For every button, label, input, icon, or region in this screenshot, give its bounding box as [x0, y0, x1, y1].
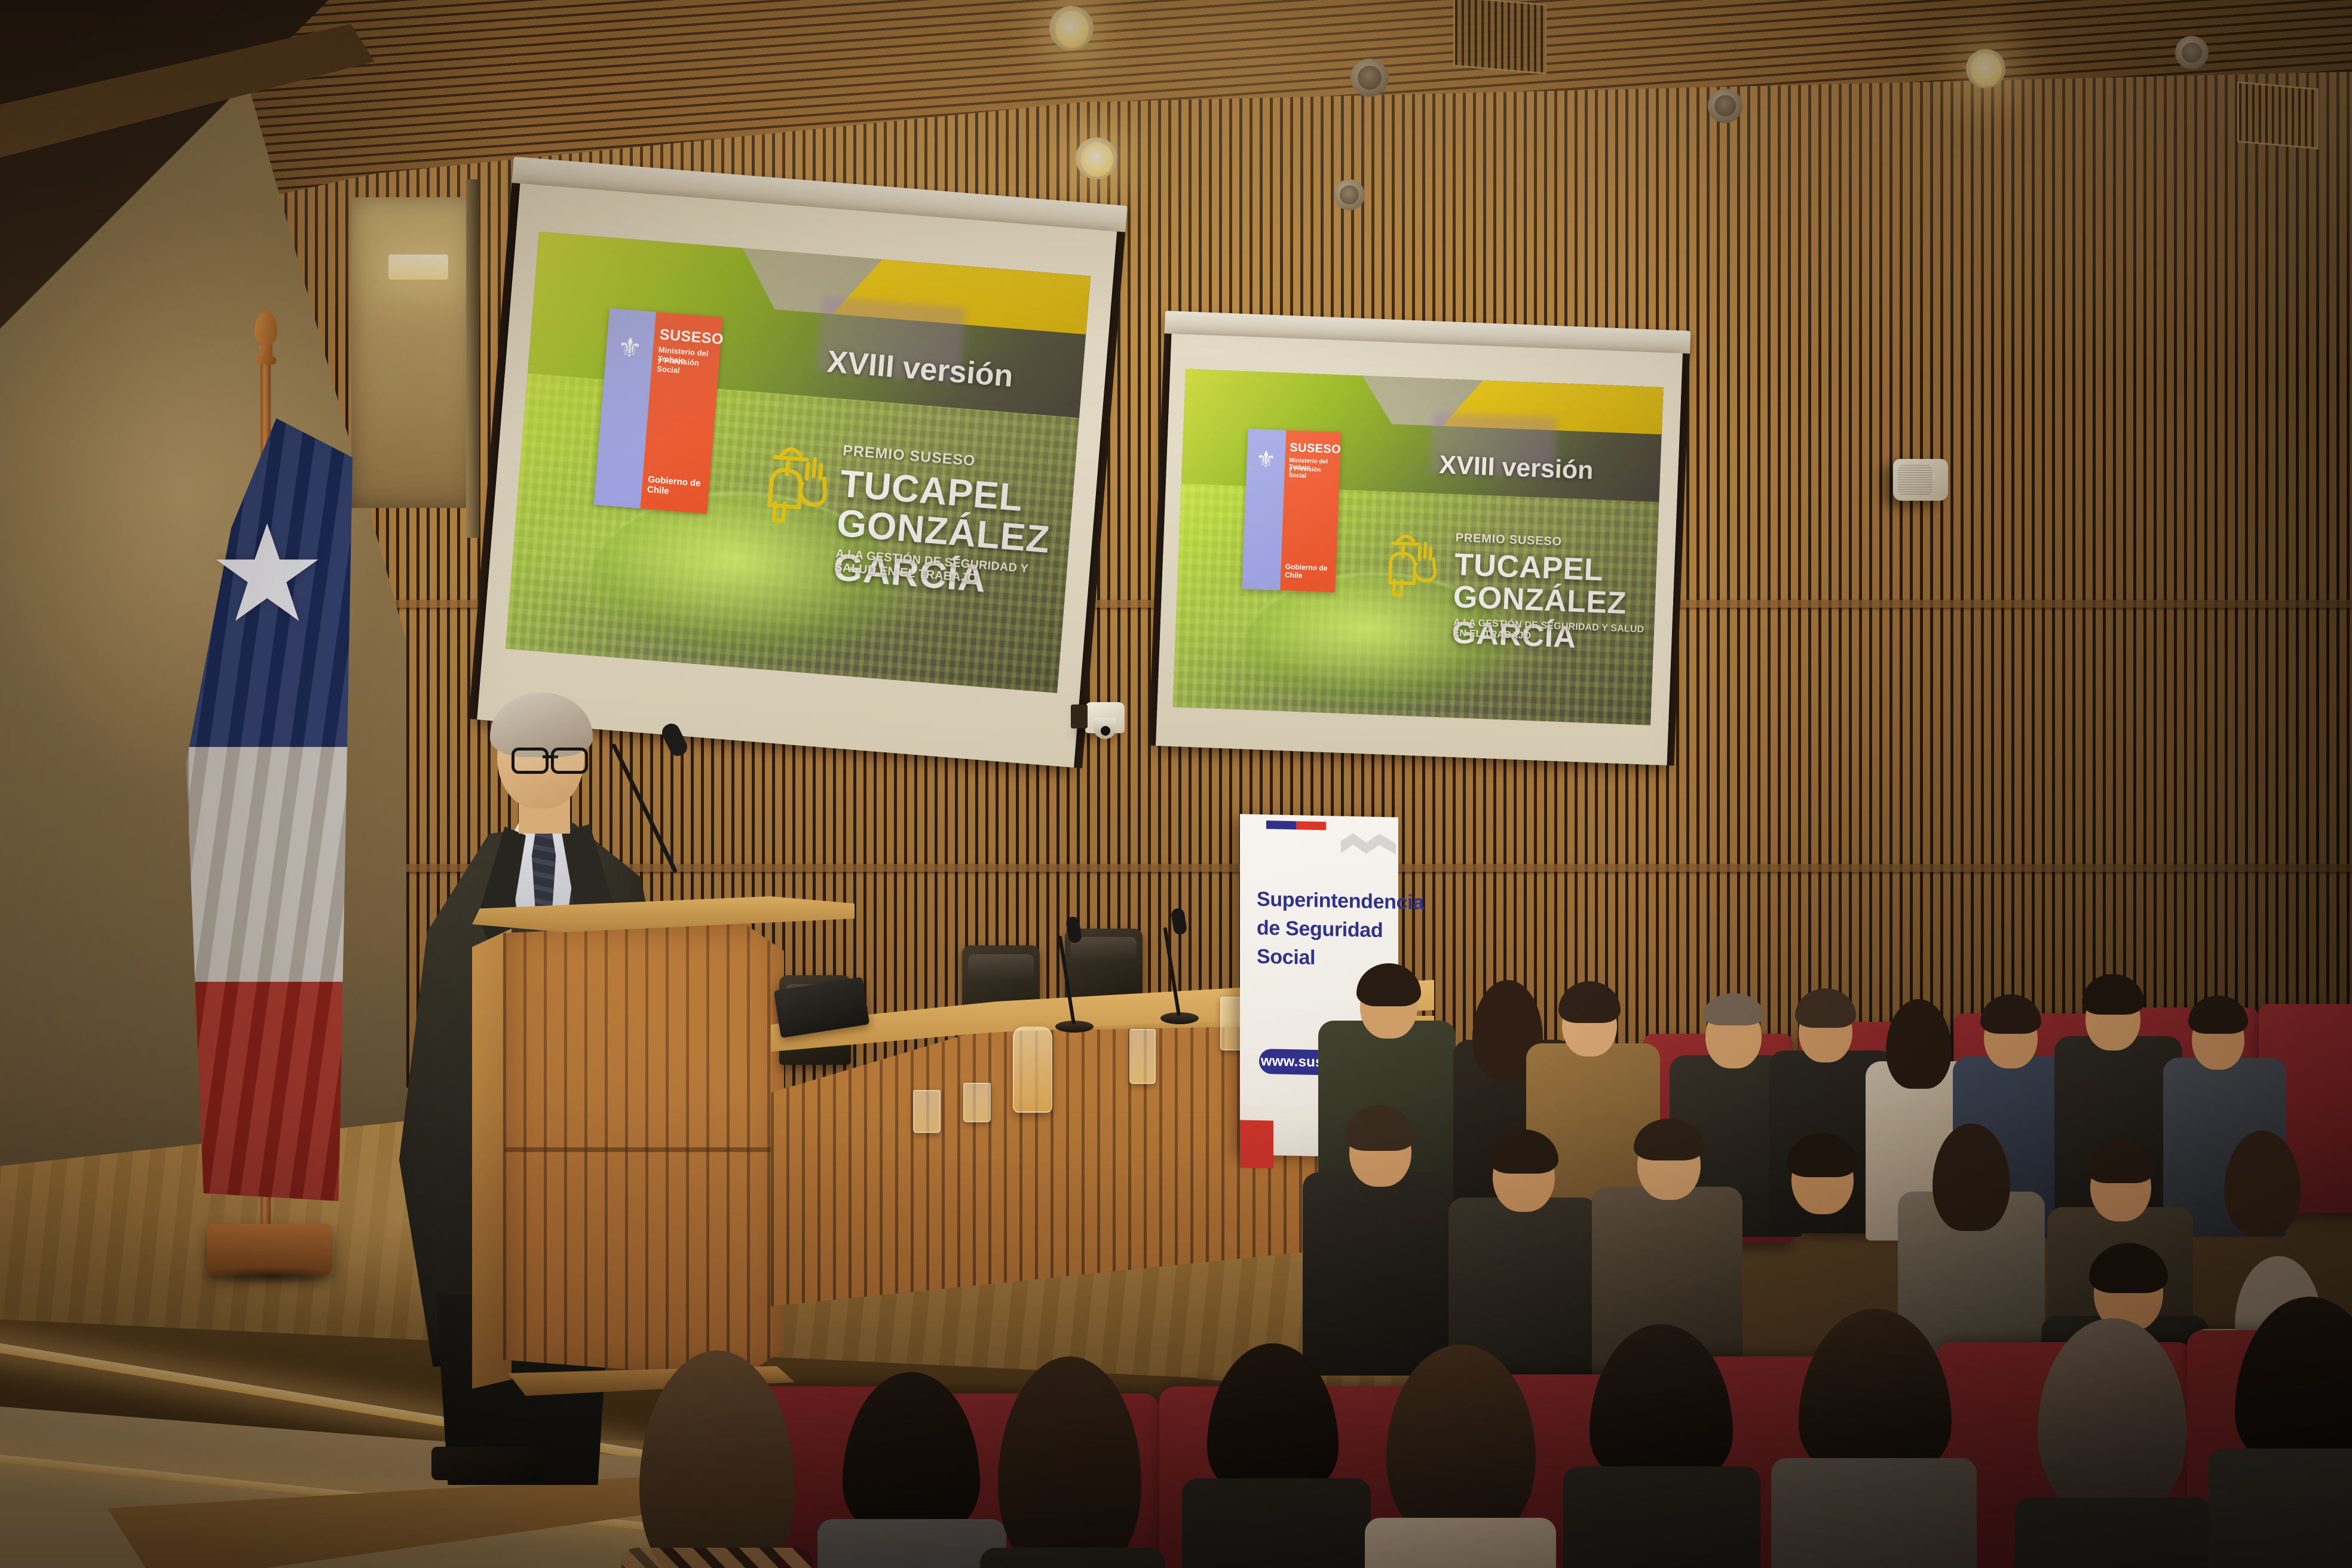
slide-award-name-2: GONZÁLEZ GARCÍA: [1451, 579, 1656, 659]
slide-left: ⚜ SUSESO Ministerio del Trabajo y Previs…: [506, 232, 1091, 693]
suseso-logo: ⚜ SUSESO Ministerio del Trabajo y Previs…: [1242, 428, 1341, 592]
flag-star-icon: [210, 519, 324, 632]
suseso-logo: ⚜ SUSESO Ministerio del Trabajo y Previs…: [594, 308, 723, 514]
chile-flag-bar-icon: [1266, 820, 1326, 830]
slide-background-photo: [506, 373, 1079, 693]
logo-government: Gobierno de Chile: [1285, 562, 1336, 581]
slide-award-name-2: GONZÁLEZ GARCÍA: [832, 500, 1071, 607]
banner-zigzag-graphic: [1341, 833, 1396, 855]
slide-tagline: A LA GESTIÓN DE SEGURIDAD Y SALUD EN EL …: [1453, 617, 1654, 647]
ceiling-spotlight: [1076, 137, 1117, 179]
gooseneck-microphone: [1055, 901, 1097, 1033]
screen-canvas: ⚜ SUSESO Ministerio del Trabajo y Previs…: [477, 183, 1117, 767]
projection-screen-left: ⚜ SUSESO Ministerio del Trabajo y Previs…: [468, 157, 1128, 778]
auditorium-photo: ⚜ SUSESO Ministerio del Trabajo y Previs…: [0, 0, 2352, 1568]
slide-version: XVIII versión: [826, 344, 1015, 394]
slide-award-name-1: TUCAPEL: [1454, 547, 1604, 589]
hvac-vent: [1453, 0, 1546, 75]
wall-alcove: [351, 197, 474, 508]
slide-background-photo: [1173, 484, 1659, 725]
hvac-vent: [2237, 81, 2319, 149]
coat-of-arms-icon: ⚜: [617, 333, 644, 362]
safety-goggles-icon: [583, 480, 917, 675]
ceiling-downlight-off: [1708, 88, 1742, 123]
slide-tagline: A LA GESTIÓN DE SEGURIDAD Y SALUD EN EL …: [834, 547, 1067, 593]
slide-version: XVIII versión: [1438, 451, 1594, 486]
slide-award-prefix: PREMIO SUSESO: [1455, 531, 1562, 549]
banner-red-foot: [1240, 1120, 1273, 1168]
ceiling-spotlight: [1966, 49, 2005, 88]
worker-hardhat-hand-icon: [1382, 522, 1440, 608]
projection-screen-right: ⚜ SUSESO Ministerio del Trabajo y Previs…: [1149, 311, 1691, 773]
worker-hardhat-hand-icon: [759, 431, 834, 539]
ceiling-downlight-off: [2175, 36, 2209, 69]
flag-base: [207, 1224, 332, 1275]
podium-microphone: [674, 730, 794, 880]
water-glass: [963, 1083, 991, 1122]
safety-goggles-icon: [1240, 568, 1523, 716]
front-audience-row: [705, 1207, 2352, 1568]
wall-speaker: [1893, 459, 1948, 501]
slide-award-prefix: PREMIO SUSESO: [842, 442, 976, 470]
slide-yellow-shape: [1442, 379, 1664, 434]
logo-ministry-line1: Ministerio del Trabajo: [1289, 457, 1340, 473]
logo-government: Gobierno de Chile: [647, 474, 709, 500]
gooseneck-microphone: [1160, 895, 1202, 1024]
ptz-camera: [1085, 702, 1125, 733]
water-glass: [1129, 1029, 1156, 1084]
logo-blue-panel: ⚜: [1242, 428, 1286, 590]
logo-org-name: SUSESO: [1290, 442, 1342, 456]
slide-award-name-1: TUCAPEL: [838, 461, 1025, 520]
speaker-shoes: [431, 1447, 545, 1480]
alcove-jamb: [466, 179, 479, 538]
slide-right: ⚜ SUSESO Ministerio del Trabajo y Previs…: [1173, 369, 1664, 725]
logo-ministry-line2: y Previsión Social: [1288, 465, 1340, 481]
logo-ministry-line1: Ministerio del Trabajo: [657, 345, 720, 367]
eyeglasses-icon: [512, 748, 588, 769]
coat-of-arms-icon: ⚜: [1255, 448, 1277, 471]
logo-red-panel: SUSESO Ministerio del Trabajo y Previsió…: [640, 312, 722, 514]
ceiling-downlight-off: [1334, 179, 1365, 210]
slide-violet-glow: [1431, 412, 1557, 478]
water-pitcher: [1013, 1027, 1052, 1113]
logo-ministry-line2: y Previsión Social: [657, 356, 719, 378]
slide-violet-glow: [816, 296, 966, 383]
logo-red-panel: SUSESO Ministerio del Trabajo y Previsió…: [1280, 430, 1341, 592]
water-glass: [913, 1090, 941, 1133]
ceiling-downlight-off: [1350, 59, 1389, 97]
logo-blue-panel: ⚜: [594, 308, 656, 509]
ceiling-spotlight: [1049, 6, 1094, 50]
logo-org-name: SUSESO: [659, 327, 724, 348]
screen-canvas: ⚜ SUSESO Ministerio del Trabajo y Previs…: [1156, 333, 1683, 765]
alcove-wall-light: [388, 255, 448, 280]
